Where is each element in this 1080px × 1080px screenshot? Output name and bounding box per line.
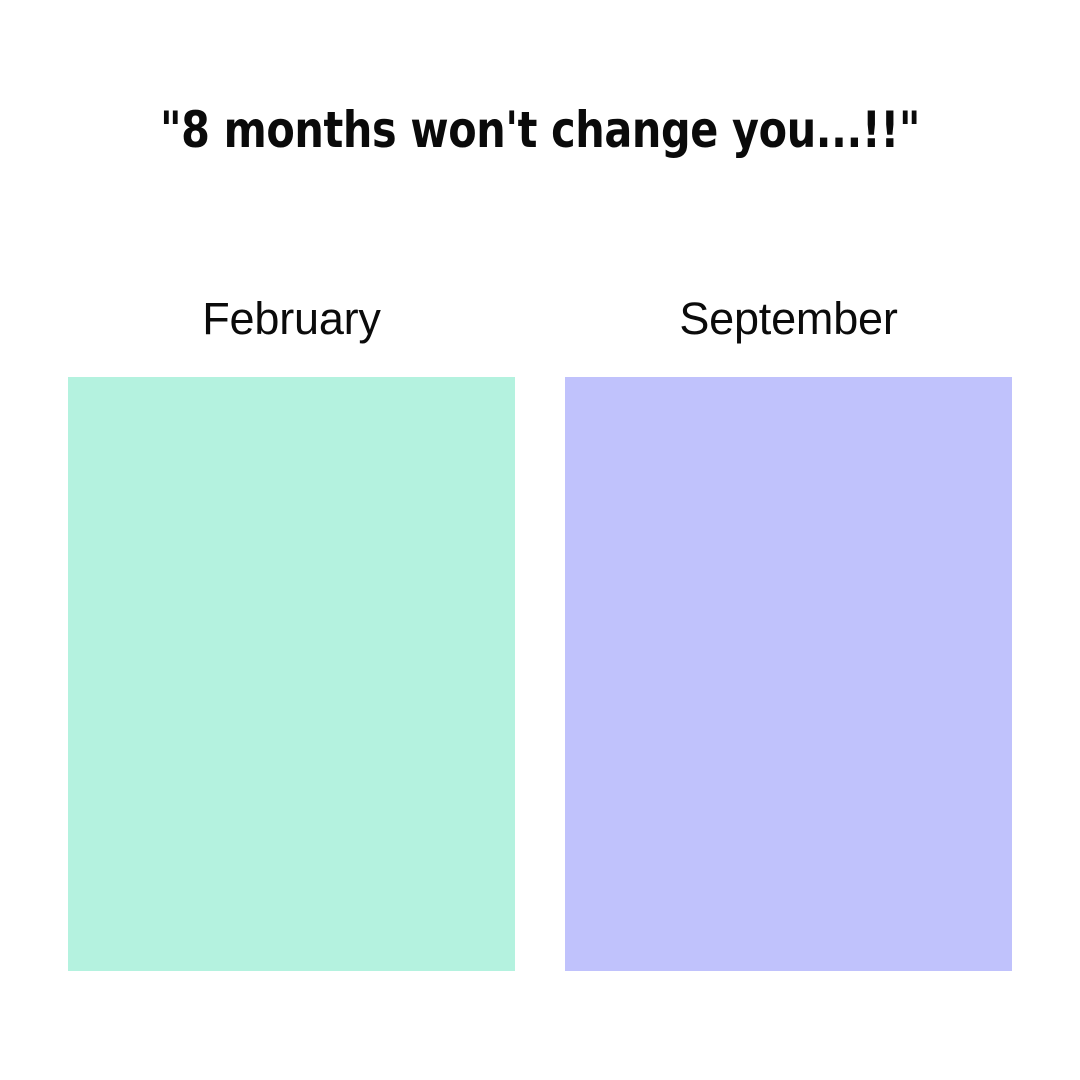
panel-image-february [68,377,515,971]
comparison-panels: February September [68,290,1012,971]
meme-canvas: "8 months won't change you...!!" Februar… [0,0,1080,1080]
comparison-panel-february: February [68,290,515,971]
panel-label-february: February [68,290,515,348]
page-title: "8 months won't change you...!!" [43,99,1037,161]
comparison-panel-september: September [565,290,1012,971]
panel-image-september [565,377,1012,971]
panel-label-september: September [565,290,1012,348]
